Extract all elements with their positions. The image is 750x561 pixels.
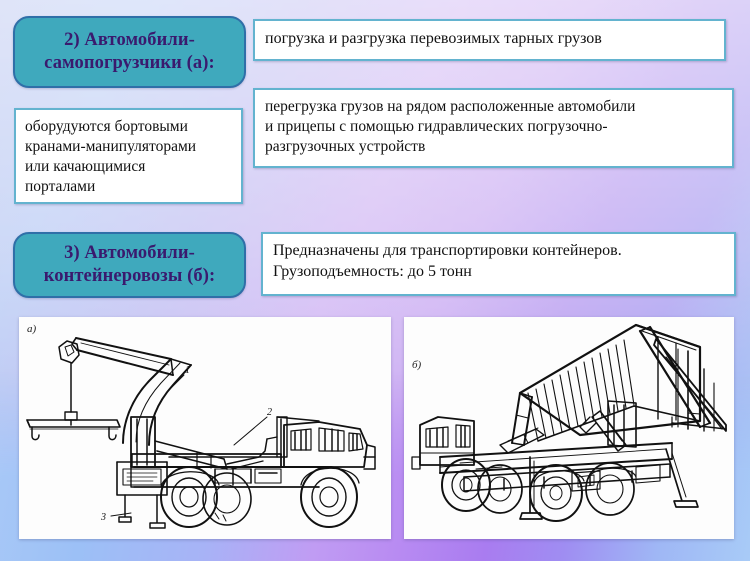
heading-line-2: самопогрузчики (а): (44, 53, 215, 73)
note-line-4: порталами (25, 177, 232, 197)
figure-a-number-2: 2 (267, 407, 272, 418)
detail-konteinerovozy-line-1: Предназначены для транспортировки контей… (273, 241, 724, 262)
detail-box-konteinerovozy: Предназначены для транспортировки контей… (261, 232, 736, 296)
heading-line-3: 3) Автомобили- (64, 243, 195, 263)
note-line-2: кранами-манипуляторами (25, 137, 232, 157)
figure-panel-a: а) (19, 317, 391, 539)
figure-a-number-1: 1 (185, 365, 190, 376)
note-box-samopogruzchiki: оборудуются бортовыми кранами-манипулято… (14, 108, 243, 204)
detail-peregruzka-line-3: разгрузочных устройств (265, 137, 722, 157)
figure-a-number-3: 3 (100, 512, 106, 523)
heading-line-4: контейнеровозы (б): (44, 266, 215, 286)
slide-canvas: 2) Автомобили- самопогрузчики (а): обору… (0, 0, 750, 561)
detail-box-peregruzka: перегрузка грузов на рядом расположенные… (253, 88, 734, 168)
detail-pogruzka-line-1: погрузка и разгрузка перевозимых тарных … (265, 29, 714, 50)
note-line-1: оборудуются бортовыми (25, 117, 232, 137)
figure-b-drawing (404, 317, 734, 539)
heading-line-1: 2) Автомобили- (64, 30, 195, 50)
detail-konteinerovozy-line-2: Грузоподъемность: до 5 тонн (273, 262, 724, 283)
note-line-3: или качающимися (25, 157, 232, 177)
detail-box-pogruzka: погрузка и разгрузка перевозимых тарных … (253, 19, 726, 61)
heading-box-konteinerovozy: 3) Автомобили- контейнеровозы (б): (13, 232, 246, 298)
detail-peregruzka-line-2: и прицепы с помощью гидравлических погру… (265, 117, 722, 137)
figure-panel-b: б) (404, 317, 734, 539)
heading-text-samopogruzchiki: 2) Автомобили- самопогрузчики (а): (44, 29, 215, 74)
heading-text-konteinerovozy: 3) Автомобили- контейнеровозы (б): (44, 242, 215, 287)
heading-box-samopogruzchiki: 2) Автомобили- самопогрузчики (а): (13, 16, 246, 88)
figure-a-drawing: 1 2 3 (19, 317, 391, 539)
detail-peregruzka-line-1: перегрузка грузов на рядом расположенные… (265, 97, 722, 117)
